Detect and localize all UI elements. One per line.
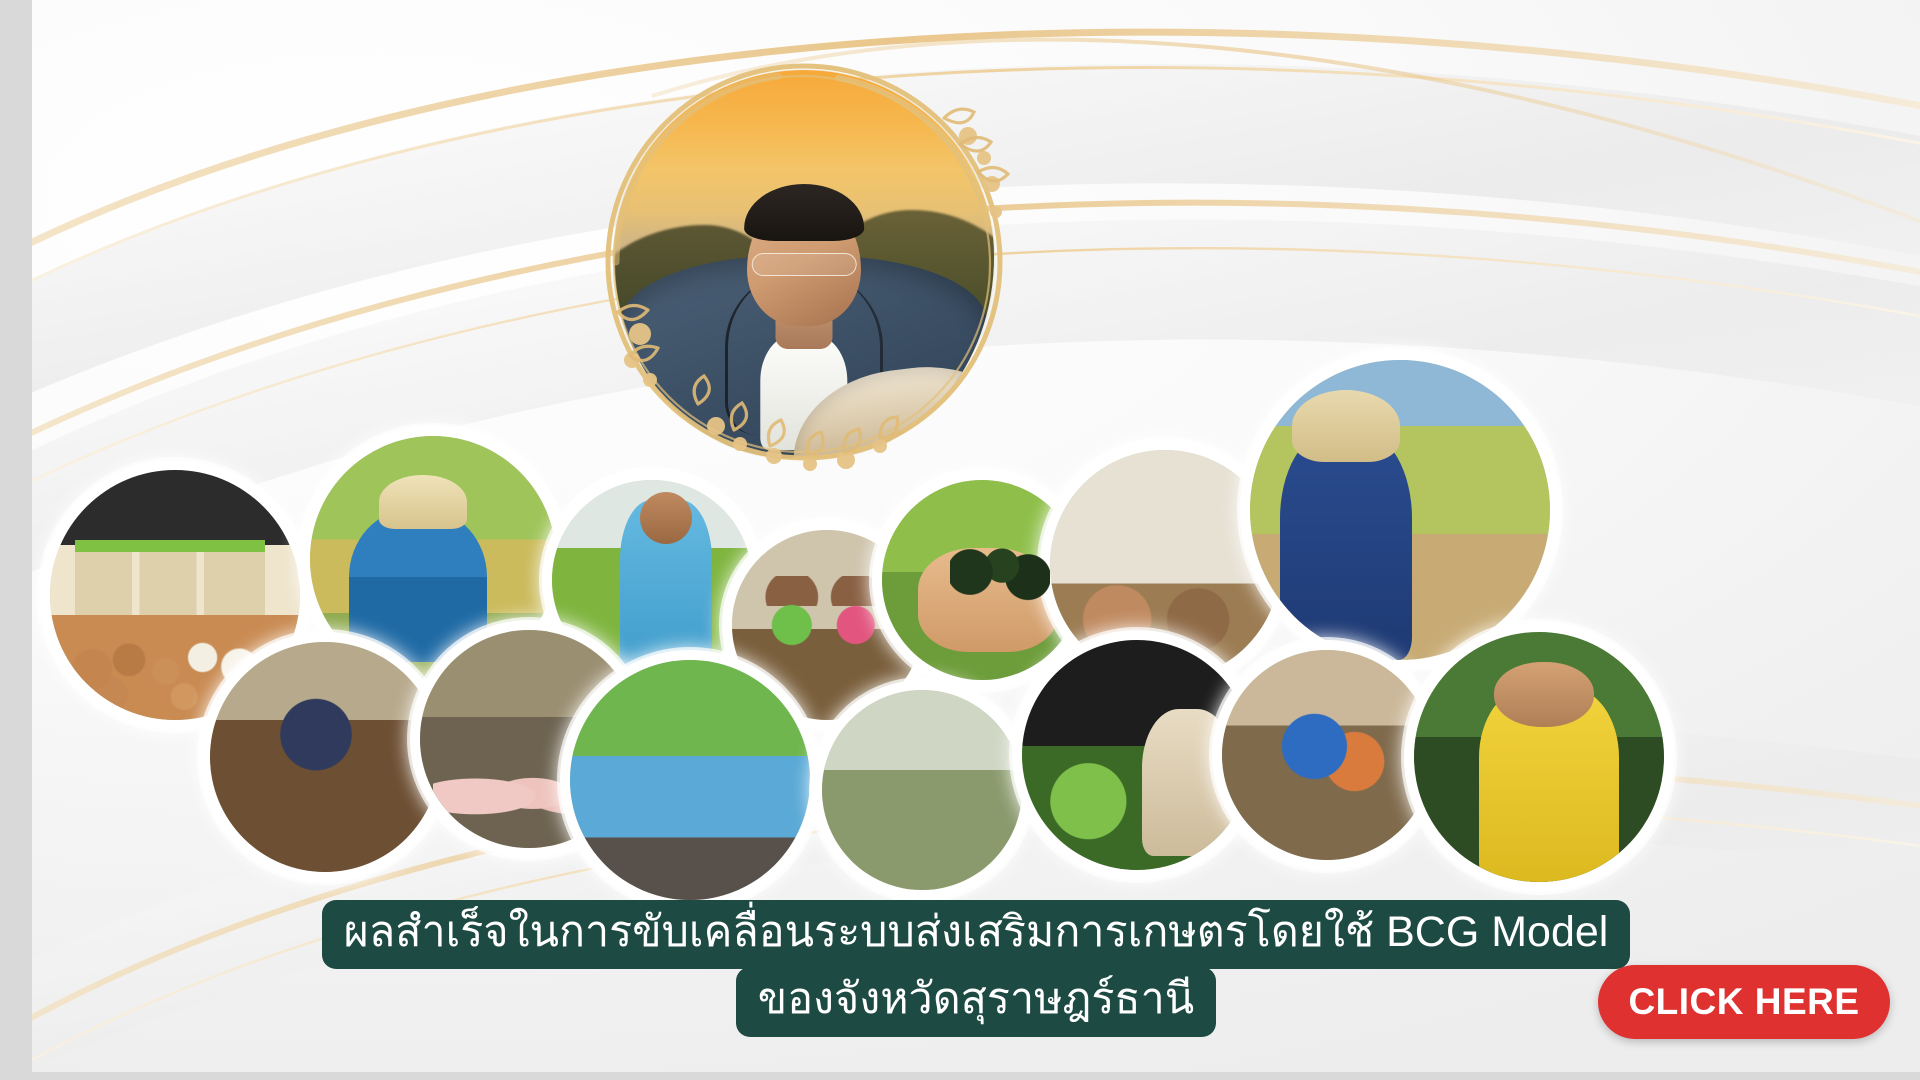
photo-girl-vegetables	[1022, 640, 1252, 870]
photo-bubble-girl-with-vegetables	[1022, 640, 1252, 870]
left-frame-border	[0, 0, 32, 1080]
photo-bubble-pond-and-field	[570, 660, 810, 900]
photo-compost	[1222, 650, 1432, 860]
banner-screenshot: ผลสำเร็จในการขับเคลื่อนระบบส่งเสริมการเก…	[0, 0, 1920, 1080]
headline-line-1: ผลสำเร็จในการขับเคลื่อนระบบส่งเสริมการเก…	[322, 900, 1631, 969]
bottom-frame-border	[0, 1072, 1920, 1080]
photo-bubble-market-stall	[822, 690, 1022, 890]
photo-bubble-child-making-compost	[1222, 650, 1432, 860]
photo-pond	[570, 660, 810, 900]
photo-market	[822, 690, 1022, 890]
headline-line-2: ของจังหวัดสุราษฎร์ธานี	[736, 967, 1216, 1036]
photo-bubble-boy-in-yellow-shirt	[1414, 632, 1664, 882]
photo-bubble-woman-farmer-in-paddy	[1250, 360, 1550, 660]
photo-digging	[210, 642, 440, 872]
royal-portrait-medallion	[588, 48, 1020, 480]
click-here-button[interactable]: CLICK HERE	[1598, 965, 1890, 1039]
artboard: ผลสำเร็จในการขับเคลื่อนระบบส่งเสริมการเก…	[32, 0, 1920, 1072]
photo-bubble-children-digging-soil	[210, 642, 440, 872]
gold-wreath-frame	[588, 48, 1020, 480]
photo-boy	[1414, 632, 1664, 882]
photo-woman-farmer	[1250, 360, 1550, 660]
